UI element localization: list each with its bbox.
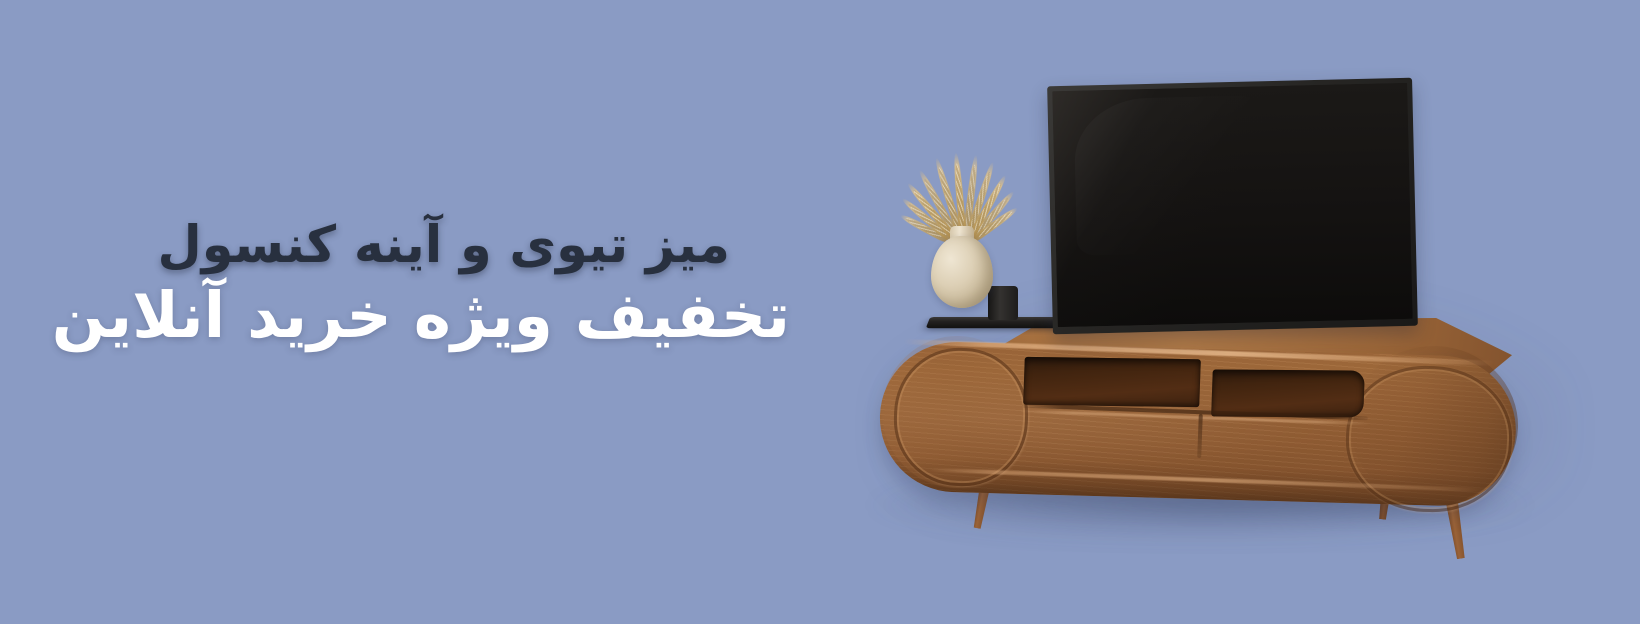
console-open-shelf-left [1023, 357, 1201, 407]
tv-screen-glare [1074, 96, 1262, 256]
ceramic-vase [931, 236, 993, 308]
tv-screen [1052, 83, 1412, 327]
television [1047, 78, 1418, 335]
headline-block: میز تیوی و آینه کنسول تخفیف ویژه خرید آن… [0, 216, 790, 353]
console-open-shelf-right [1211, 369, 1365, 417]
headline-primary: میز تیوی و آینه کنسول [0, 216, 790, 275]
tv-bezel [1047, 78, 1418, 335]
promo-banner: میز تیوی و آینه کنسول تخفیف ویژه خرید آن… [0, 0, 1640, 624]
product-scene [820, 40, 1640, 600]
vase-with-pampas-grass [905, 152, 1025, 312]
headline-secondary: تخفیف ویژه خرید آنلاین [0, 279, 790, 353]
